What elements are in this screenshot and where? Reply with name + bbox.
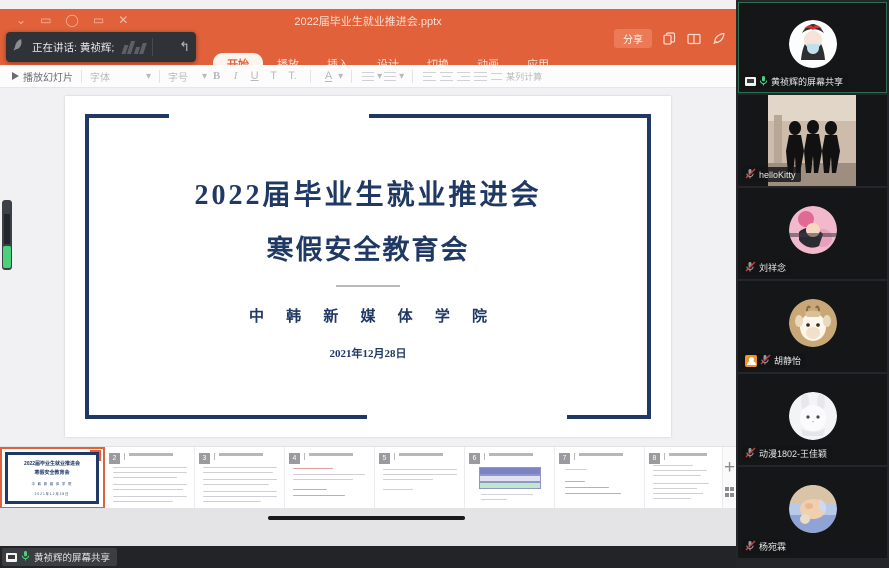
participant-name-tag: helloKitty [742, 167, 801, 182]
slide-title-line2: 寒假安全教育会 [267, 228, 470, 267]
participant-name-tag: 杨宛霖 [742, 539, 791, 554]
font-family-select[interactable]: 字体 [90, 69, 146, 84]
mic-muted-icon [745, 445, 756, 463]
slide-title-line1: 2022届毕业生就业推进会 [194, 173, 541, 213]
thumb-date: 2021年12月28日 [35, 491, 70, 496]
undo-arrow-icon[interactable]: ↰ [179, 39, 190, 55]
thumbnail-number: 2 [109, 453, 120, 464]
justify-button[interactable] [472, 70, 489, 83]
underline-button[interactable]: U [245, 70, 264, 82]
participant-name: 胡静怡 [774, 354, 801, 367]
avatar [789, 206, 837, 254]
participant-name: 杨宛霖 [759, 540, 786, 553]
thumb-title-1: 2022届毕业生就业推进会 [24, 460, 80, 467]
shared-screen-region: ⌄ ▭ ◯ ▭ ✕ 2022届毕业生就业推进会.pptx 分享 [0, 0, 736, 546]
strikethrough-button[interactable]: T. [283, 70, 302, 82]
screen-share-icon [6, 553, 17, 562]
numbered-list-caret-icon[interactable]: ▾ [399, 71, 404, 82]
titlebar-right-icons: 分享 [614, 29, 726, 48]
participant-name: 黄祯辉的屏幕共享 [771, 75, 843, 88]
thumbnail-slide-6[interactable]: 6 [465, 447, 555, 509]
line-spacing-button[interactable] [489, 70, 506, 83]
font-color-caret-icon[interactable]: ▾ [338, 71, 343, 82]
divider [81, 70, 82, 83]
speaking-indicator-overlay[interactable]: 正在讲话: 黄祯辉; ↰ [6, 32, 196, 62]
thumbnail-number: 3 [199, 453, 210, 464]
book-icon[interactable] [687, 33, 701, 45]
play-slideshow-label: 播放幻灯片 [23, 69, 73, 84]
thumbnail-slide-1[interactable]: 1 2022届毕业生就业推进会 寒假安全教育会 中 韩 新 媒 体 学 院 20… [0, 447, 105, 509]
participant-tile-4[interactable]: 动漫1802-王佳颖 [738, 374, 887, 465]
mic-muted-icon [745, 166, 756, 184]
participant-tile-1[interactable]: helloKitty [738, 95, 887, 186]
bullet-list-button[interactable] [360, 70, 377, 83]
divider [310, 70, 311, 83]
thumbnail-preview: 2022届毕业生就业推进会 寒假安全教育会 中 韩 新 媒 体 学 院 2021… [5, 452, 99, 504]
text-shadow-button[interactable]: T [264, 70, 283, 82]
pen-feather-icon[interactable] [712, 32, 726, 45]
thumbnail-number: 8 [649, 453, 660, 464]
participant-name-tag: 动漫1802-王佳颖 [742, 446, 832, 461]
line-spacing-label: 某列计算 [506, 70, 542, 83]
screen-share-icon [745, 77, 756, 86]
participant-tile-0[interactable]: 黄祯辉的屏幕共享 [738, 2, 887, 93]
thumbnail-slide-4[interactable]: 4 [285, 447, 375, 509]
participant-name: 刘祥念 [759, 261, 786, 274]
numbered-list-button[interactable] [382, 70, 399, 83]
slide-thumbnail-strip[interactable]: 1 2022届毕业生就业推进会 寒假安全教育会 中 韩 新 媒 体 学 院 20… [0, 446, 736, 508]
thumbnail-slide-8[interactable]: 8 [645, 447, 723, 509]
slide-date: 2021年12月28日 [330, 345, 407, 361]
copy-icon[interactable] [663, 32, 676, 45]
taskbar-share-item[interactable]: 黄祯辉的屏幕共享 [2, 548, 117, 566]
document-title: 2022届毕业生就业推进会.pptx [0, 13, 736, 29]
thumbnail-number: 4 [289, 453, 300, 464]
avatar [789, 485, 837, 533]
slide-divider-rule [336, 285, 400, 287]
speaking-text: 正在讲话: 黄祯辉; [32, 40, 114, 55]
participant-name-tag: 胡静怡 [742, 353, 806, 368]
formatting-toolbar: 播放幻灯片 字体 ▾ 字号 ▾ B I U T T. A ▾ ▾ ▾ [0, 65, 736, 88]
align-right-button[interactable] [455, 70, 472, 83]
strip-tools: + [723, 447, 736, 508]
participant-panel[interactable]: 黄祯辉的屏幕共享 hel [736, 0, 889, 568]
slide-text-block: 2022届毕业生就业推进会 寒假安全教育会 中 韩 新 媒 体 学 院 2021… [65, 96, 671, 437]
participant-name-tag: 黄祯辉的屏幕共享 [742, 74, 848, 89]
host-badge-icon [745, 355, 757, 367]
slide-canvas: 2022届毕业生就业推进会 寒假安全教育会 中 韩 新 媒 体 学 院 2021… [0, 88, 736, 446]
share-button[interactable]: 分享 [614, 29, 652, 48]
thumbnail-number: 6 [469, 453, 480, 464]
participant-tile-3[interactable]: 胡静怡 [738, 281, 887, 372]
horizontal-scrollbar-region[interactable] [0, 508, 736, 546]
thumbnail-slide-7[interactable]: 7 [555, 447, 645, 509]
thumbnail-slide-5[interactable]: 5 [375, 447, 465, 509]
horizontal-scrollbar-thumb[interactable] [268, 516, 465, 520]
divider [412, 70, 413, 83]
audio-wave-icon [123, 40, 145, 54]
italic-button[interactable]: I [226, 70, 245, 82]
screen-root: ⌄ ▭ ◯ ▭ ✕ 2022届毕业生就业推进会.pptx 分享 [0, 0, 889, 568]
thumbnail-slide-3[interactable]: 3 [195, 447, 285, 509]
speaker-avatar-icon [12, 38, 25, 57]
participant-tile-5[interactable]: 杨宛霖 [738, 467, 887, 558]
align-center-button[interactable] [438, 70, 455, 83]
thumb-org: 中 韩 新 媒 体 学 院 [32, 481, 73, 486]
align-left-button[interactable] [421, 70, 438, 83]
mic-muted-icon [745, 538, 756, 556]
current-slide[interactable]: 2022届毕业生就业推进会 寒假安全教育会 中 韩 新 媒 体 学 院 2021… [65, 96, 671, 437]
mic-muted-icon [760, 352, 771, 370]
mic-muted-icon [745, 259, 756, 277]
divider [351, 70, 352, 83]
mic-icon [759, 73, 768, 91]
taskbar-label: 黄祯辉的屏幕共享 [34, 550, 110, 564]
slide-subtitle-org: 中 韩 新 媒 体 学 院 [240, 305, 496, 326]
play-slideshow-button[interactable]: 播放幻灯片 [0, 69, 73, 84]
mic-icon [21, 548, 30, 566]
font-color-button[interactable]: A [319, 70, 338, 82]
avatar [789, 299, 837, 347]
avatar [789, 392, 837, 440]
participant-name: 动漫1802-王佳颖 [759, 447, 827, 460]
participant-name-tag: 刘祥念 [742, 260, 791, 275]
participant-tile-2[interactable]: 刘祥念 [738, 188, 887, 279]
left-rail-indicator[interactable] [2, 200, 12, 270]
avatar [789, 20, 837, 68]
divider [152, 38, 153, 56]
divider [159, 70, 160, 83]
add-slide-button[interactable]: + [724, 458, 735, 477]
thumbnail-number: 5 [379, 453, 390, 464]
bold-button[interactable]: B [207, 70, 226, 82]
thumb-title-2: 寒假安全教育会 [34, 469, 69, 476]
play-triangle-icon [12, 72, 19, 80]
font-size-select[interactable]: 字号 [168, 69, 202, 84]
thumbnail-number: 7 [559, 453, 570, 464]
font-family-caret-icon[interactable]: ▾ [146, 71, 151, 82]
participant-name: helloKitty [759, 170, 796, 180]
grid-view-icon[interactable] [725, 487, 735, 497]
thumbnail-slide-2[interactable]: 2 [105, 447, 195, 509]
bottom-taskbar: 黄祯辉的屏幕共享 [0, 546, 736, 568]
